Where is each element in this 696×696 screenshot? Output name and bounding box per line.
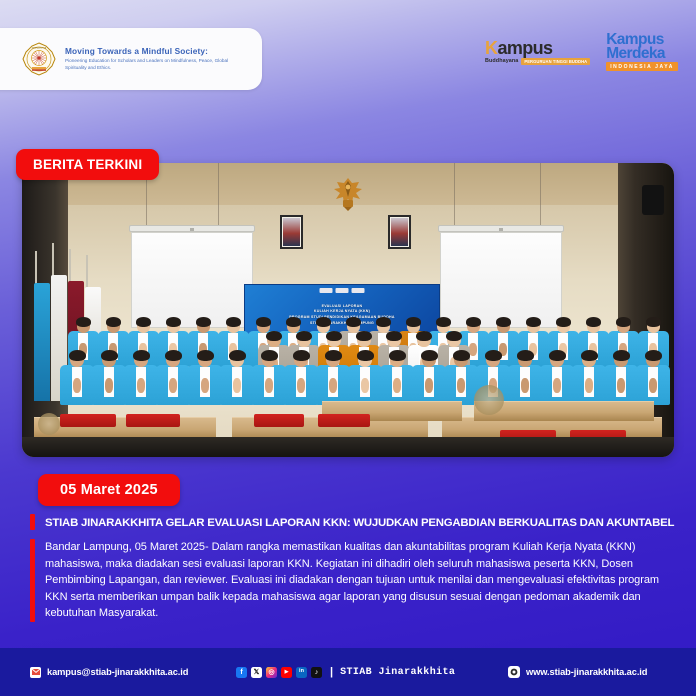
- facebook-icon[interactable]: f: [236, 667, 247, 678]
- kampus-buddhayana-wordmark: Kampus: [485, 40, 552, 57]
- news-photo: EVALUASI LAPORAN KULIAH KERJA NYATA (KKN…: [22, 163, 674, 457]
- article-headline: STIAB JINARAKKHITA GELAR EVALUASI LAPORA…: [45, 514, 674, 530]
- x-twitter-icon[interactable]: 𝕏: [251, 667, 262, 678]
- person: [60, 345, 94, 405]
- screen-wire-right2: [540, 163, 541, 225]
- projector-screen-bar-right: [438, 225, 564, 232]
- footer-social-group: f 𝕏 ◎ ▶ in ♪ | STIAB Jinarakkhita: [236, 666, 455, 678]
- envelope-icon: [30, 667, 41, 678]
- km-tag: INDONESIA JAYA: [606, 62, 678, 71]
- tagline-main: Moving Towards a Mindful Society:: [65, 47, 250, 57]
- footer-email-group[interactable]: kampus@stiab-jinarakkhita.ac.id: [30, 667, 188, 678]
- chair: [60, 414, 116, 427]
- wall-speaker-icon: [642, 185, 664, 215]
- kb-subtitle: Buddhayana: [485, 58, 518, 64]
- linkedin-icon[interactable]: in: [296, 667, 307, 678]
- stiab-jinarakkhita-seal-icon: JINARAKKHITA: [22, 42, 56, 76]
- header-tagline-block: Moving Towards a Mindful Society: Pionee…: [65, 47, 250, 71]
- person: [252, 345, 286, 405]
- instagram-icon[interactable]: ◎: [266, 667, 277, 678]
- status-badge-berita-terkini: BERITA TERKINI: [16, 149, 159, 180]
- footer-email-text: kampus@stiab-jinarakkhita.ac.id: [47, 667, 188, 677]
- headline-accent-bar: [30, 514, 35, 530]
- youtube-icon[interactable]: ▶: [281, 667, 292, 678]
- footer-separator: |: [330, 666, 333, 678]
- kb-tag: PERGURUAN TINGGI BUDDHA: [521, 58, 590, 65]
- person: [444, 345, 478, 405]
- person: [156, 345, 190, 405]
- desk-crest: [474, 385, 504, 415]
- garuda-emblem-icon: [328, 175, 368, 218]
- person: [604, 345, 638, 405]
- photo-floor: [22, 437, 674, 457]
- km-line2: Merdeka: [606, 47, 665, 61]
- article-block: STIAB JINARAKKHITA GELAR EVALUASI LAPORA…: [30, 514, 676, 622]
- kampus-buddhayana-logo: Kampus Buddhayana PERGURUAN TINGGI BUDDH…: [485, 40, 590, 65]
- person: [188, 345, 222, 405]
- person: [380, 345, 414, 405]
- globe-icon: [508, 666, 520, 678]
- official-portrait-right: [388, 215, 411, 249]
- footer-bar: kampus@stiab-jinarakkhita.ac.id f 𝕏 ◎ ▶ …: [0, 648, 696, 696]
- person: [412, 345, 446, 405]
- person: [572, 345, 606, 405]
- footer-website-text: www.stiab-jinarakkhita.ac.id: [526, 667, 647, 677]
- person: [540, 345, 574, 405]
- partner-logos: Kampus Buddhayana PERGURUAN TINGGI BUDDH…: [485, 33, 678, 71]
- person: [284, 345, 318, 405]
- person: [124, 345, 158, 405]
- person: [636, 345, 670, 405]
- desk-crest-2: [38, 413, 60, 435]
- tiktok-icon[interactable]: ♪: [311, 667, 322, 678]
- screen-wire-left2: [218, 163, 219, 225]
- body-accent-bar: [30, 539, 35, 622]
- official-portrait-left: [280, 215, 303, 249]
- person: [348, 345, 382, 405]
- article-body: Bandar Lampung, 05 Maret 2025- Dalam ran…: [45, 539, 676, 622]
- chair: [126, 414, 180, 427]
- kb-word-rest: ampus: [497, 38, 552, 58]
- projector-screen-bar-left: [129, 225, 255, 232]
- screen-wire-right: [454, 163, 455, 225]
- article-date-badge: 05 Maret 2025: [38, 474, 180, 506]
- svg-text:JINARAKKHITA: JINARAKKHITA: [31, 46, 47, 49]
- chair: [254, 414, 304, 427]
- person: [316, 345, 350, 405]
- footer-social-handle: STIAB Jinarakkhita: [340, 667, 455, 678]
- tagline-sub: Pioneering Education for Scholars and Le…: [65, 58, 250, 71]
- footer-website-group[interactable]: www.stiab-jinarakkhita.ac.id: [508, 666, 647, 678]
- chair: [318, 414, 370, 427]
- person: [508, 345, 542, 405]
- kb-initial: K: [485, 38, 497, 58]
- kampus-merdeka-logo: Kampus Merdeka INDONESIA JAYA: [606, 33, 678, 71]
- person: [220, 345, 254, 405]
- header-card: JINARAKKHITA Moving Towards a Mindful So…: [0, 28, 262, 90]
- person: [92, 345, 126, 405]
